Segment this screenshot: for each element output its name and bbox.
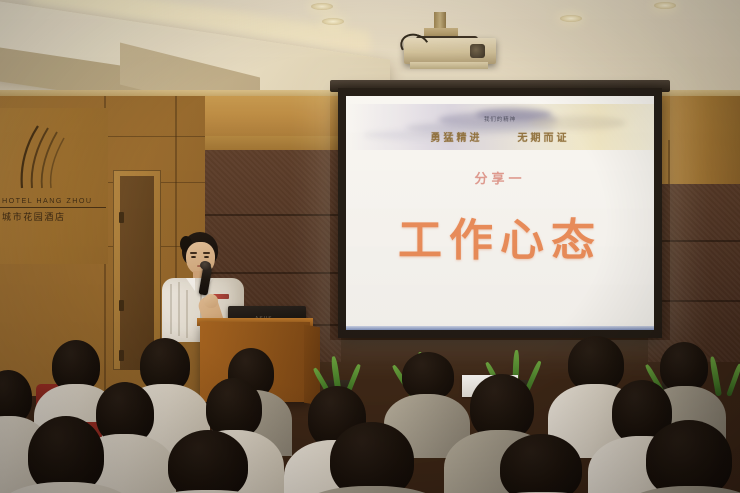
audience-head xyxy=(330,422,414,493)
slide-slogan-right: 无期而证 xyxy=(518,129,570,144)
presenter-shirt-stripe xyxy=(186,290,188,338)
plant-leaf-icon xyxy=(726,363,740,397)
door-leaf[interactable] xyxy=(120,176,154,370)
slide-section-label: 分享一 xyxy=(346,168,654,187)
door-hinge xyxy=(119,212,124,223)
slide-banner-small-text: 我们的精神 xyxy=(346,115,654,123)
slide-title: 工作心态 xyxy=(346,204,654,268)
audience-head xyxy=(646,420,732,493)
presenter-brow xyxy=(190,252,197,254)
presentation-photo-scene: HOTEL HANG ZHOU 城市花园酒店 我们的精神 勇猛精进 无期而证 分… xyxy=(0,0,740,493)
audience-head xyxy=(402,352,454,400)
presenter-shirt-stripe xyxy=(170,284,172,334)
presenter-shirt-stripe xyxy=(178,282,180,336)
downlight-icon xyxy=(560,15,582,22)
projector-mount-plate xyxy=(410,62,488,69)
projection-screen: 我们的精神 勇猛精进 无期而证 分享一 工作心态 xyxy=(346,96,654,330)
hotel-sign-panel xyxy=(0,108,108,264)
door-hinge xyxy=(119,350,124,361)
door-hinge xyxy=(119,300,124,311)
hotel-sign-rule xyxy=(0,207,106,208)
audience-head xyxy=(206,378,262,438)
presenter-brow xyxy=(203,252,210,254)
hotel-sign-chinese: 城市花园酒店 xyxy=(2,210,106,223)
hotel-sign-english: HOTEL HANG ZHOU xyxy=(2,196,106,205)
slide-slogan: 勇猛精进 无期而证 xyxy=(346,129,654,144)
projector-lens-icon xyxy=(470,44,485,58)
plant-leaf-icon xyxy=(709,356,722,396)
screen-taskbar-edge xyxy=(346,326,654,330)
wall-seam xyxy=(668,140,670,184)
panel-seam xyxy=(205,214,341,216)
audience-head xyxy=(500,434,582,493)
audience-head xyxy=(660,342,708,392)
audience-head xyxy=(168,430,248,493)
downlight-icon xyxy=(654,2,676,9)
downlight-icon xyxy=(311,3,333,10)
hotel-swoosh-logo-icon xyxy=(8,122,68,192)
presenter-hand xyxy=(204,294,218,308)
downlight-icon xyxy=(322,18,344,25)
slide-slogan-left: 勇猛精进 xyxy=(431,129,483,144)
